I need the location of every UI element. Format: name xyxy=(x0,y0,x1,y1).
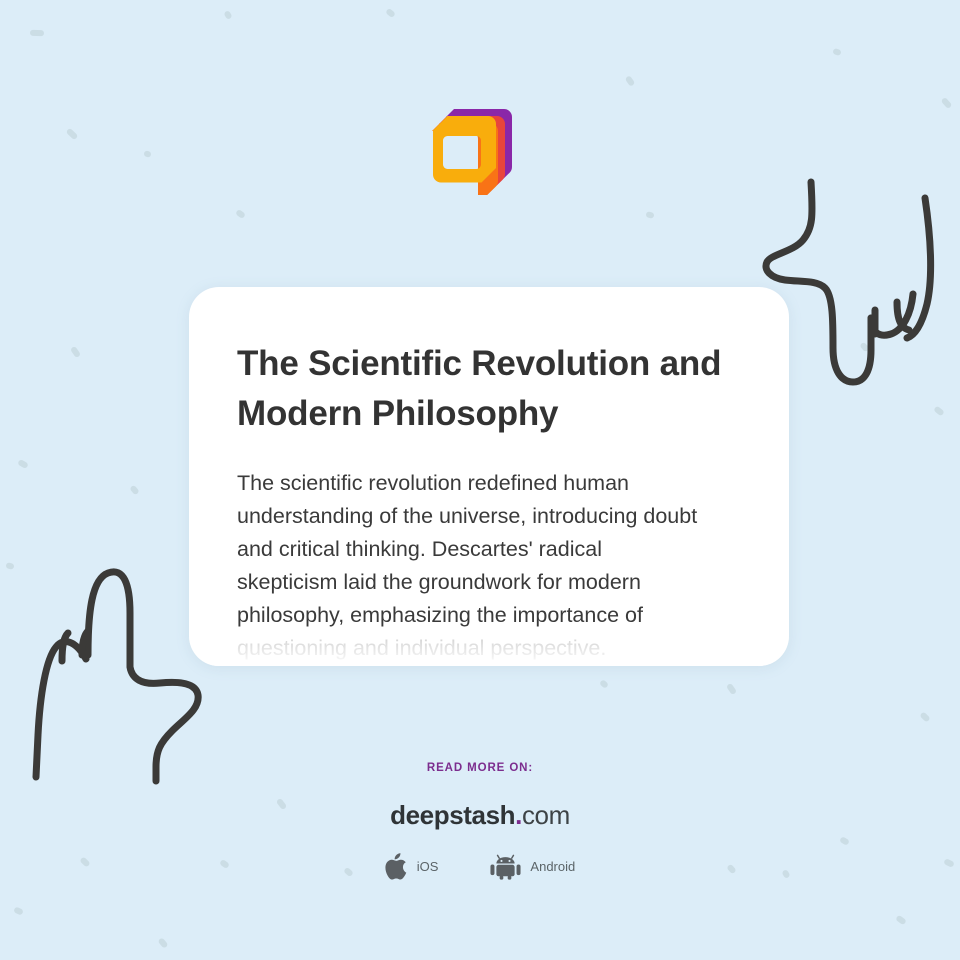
app-store-badges: iOS Android xyxy=(0,853,960,880)
page-title: The Scientific Revolution and Modern Phi… xyxy=(237,339,739,439)
confetti-particle xyxy=(599,679,609,689)
confetti-particle xyxy=(157,937,168,949)
site-wordmark[interactable]: deepstash.com xyxy=(0,800,960,831)
card-body-line: and critical thinking. Descartes' radica… xyxy=(237,533,739,566)
wordmark-tld: com xyxy=(522,800,570,830)
apple-icon xyxy=(385,853,408,880)
card-body-line: The scientific revolution redefined huma… xyxy=(237,467,739,500)
card-body-line: questioning and individual perspective. xyxy=(237,632,739,665)
confetti-particle xyxy=(143,150,152,158)
android-icon xyxy=(490,854,521,880)
card-body-line: skepticism laid the groundwork for moder… xyxy=(237,566,739,599)
confetti-particle xyxy=(919,711,930,722)
confetti-particle xyxy=(13,906,24,915)
ios-store-badge[interactable]: iOS xyxy=(385,853,439,880)
idea-card: The Scientific Revolution and Modern Phi… xyxy=(189,287,789,666)
confetti-particle xyxy=(385,8,396,18)
android-store-label: Android xyxy=(530,859,575,874)
wordmark-dot: . xyxy=(515,800,522,830)
confetti-particle xyxy=(941,97,953,109)
confetti-particle xyxy=(933,406,945,417)
confetti-particle xyxy=(30,30,44,36)
confetti-particle xyxy=(859,342,869,353)
confetti-particle xyxy=(70,346,81,358)
confetti-particle xyxy=(726,683,737,695)
deepstash-logo xyxy=(430,105,515,195)
confetti-particle xyxy=(625,75,636,87)
confetti-particle xyxy=(223,10,232,20)
android-store-badge[interactable]: Android xyxy=(490,854,575,880)
confetti-particle xyxy=(66,128,79,141)
card-body-text: The scientific revolution redefined huma… xyxy=(237,467,739,665)
confetti-particle xyxy=(17,459,29,469)
wordmark-name: deepstash xyxy=(390,800,515,830)
card-body-line: philosophy, emphasizing the importance o… xyxy=(237,599,739,632)
confetti-particle xyxy=(645,211,654,219)
ios-store-label: iOS xyxy=(417,859,439,874)
read-more-label: READ MORE ON: xyxy=(0,762,960,774)
confetti-particle xyxy=(895,915,907,926)
confetti-particle xyxy=(5,562,14,570)
footer: READ MORE ON: deepstash.com iOS xyxy=(0,762,960,880)
confetti-particle xyxy=(832,48,842,56)
confetti-particle xyxy=(129,485,139,496)
confetti-particle xyxy=(235,209,246,219)
card-body-line: understanding of the universe, introduci… xyxy=(237,500,739,533)
logo-layer-amber xyxy=(433,116,496,183)
